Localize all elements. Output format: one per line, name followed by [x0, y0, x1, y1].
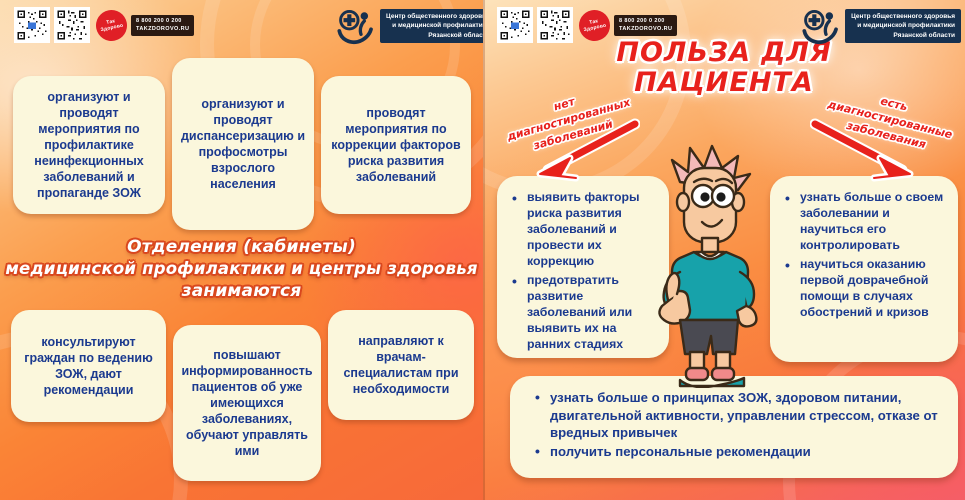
health-cross-icon [336, 6, 376, 46]
info-card-consult: консультируют граждан по ведению ЗОЖ, да… [11, 310, 166, 422]
list-item: узнать больше о принципах ЗОЖ, здоровом … [532, 389, 946, 442]
info-card-text: повышают информированность пациентов об … [173, 347, 321, 459]
info-card-organize-prevention: организуют и проводят мероприятия по про… [13, 76, 165, 214]
benefit-list-bottom: узнать больше о принципах ЗОЖ, здоровом … [510, 376, 958, 461]
takzdorovo-circle-icon: Так Здорово [93, 7, 130, 44]
info-card-text: консультируют граждан по ведению ЗОЖ, да… [11, 334, 166, 398]
center-logo: Центр общественного здоровья и медицинск… [336, 6, 483, 46]
left-title-line3: занимаются [0, 280, 483, 302]
center-logo-line2: и медицинской профилактики [851, 21, 955, 30]
list-item: выявить факторы риска развития заболеван… [509, 190, 659, 270]
left-header: Так Здорово 8 800 200 0 200 TAKZDOROVO.R… [0, 0, 483, 56]
takzdorovo-logo[interactable]: Так Здорово 8 800 200 0 200 TAKZDOROVO.R… [579, 10, 677, 41]
takzdorovo-circle-icon: Так Здорово [576, 7, 613, 44]
center-logo-line1: Центр общественного здоровья [851, 12, 955, 21]
benefit-list-right: узнать больше о своем заболевании и науч… [770, 176, 958, 321]
center-logo-line3: Рязанской области [851, 31, 955, 40]
list-item: предотвратить развитие заболеваний или в… [509, 273, 659, 353]
list-item: научиться оказанию первой доврачебной по… [782, 257, 948, 321]
left-panel: Так Здорово 8 800 200 0 200 TAKZDOROVO.R… [0, 0, 483, 500]
qr-code-group [14, 7, 90, 43]
info-card-referral: направляют к врачам-специалистам при нео… [328, 310, 474, 420]
qr-code-vk[interactable] [497, 7, 533, 43]
info-card-text: проводят мероприятия по коррекции фактор… [321, 105, 471, 185]
health-cross-icon [801, 6, 841, 46]
qr-code-group [497, 7, 573, 43]
takzdorovo-circle-label: Так Здорово [578, 17, 611, 34]
takzdorovo-logo[interactable]: Так Здорово 8 800 200 0 200 TAKZDOROVO.R… [96, 10, 194, 41]
takzdorovo-phone: 8 800 200 0 200 [619, 18, 672, 25]
benefit-box-with-diagnosis: узнать больше о своем заболевании и науч… [770, 176, 958, 362]
thumbs-up-character [650, 138, 770, 388]
benefit-box-no-diagnosis: выявить факторы риска развития заболеван… [497, 176, 669, 358]
info-card-dispensary: организуют и проводят диспансеризацию и … [172, 58, 314, 230]
center-logo-text: Центр общественного здоровья и медицинск… [845, 9, 961, 43]
right-title-line2: ПАЦИЕНТА [483, 68, 965, 98]
benefit-list-left: выявить факторы риска развития заболеван… [497, 176, 669, 353]
center-logo-text: Центр общественного здоровья и медицинск… [380, 9, 483, 43]
info-card-text: организуют и проводят мероприятия по про… [13, 89, 165, 201]
benefit-box-common: узнать больше о принципах ЗОЖ, здоровом … [510, 376, 958, 478]
poster: Так Здорово 8 800 200 0 200 TAKZDOROVO.R… [0, 0, 965, 500]
takzdorovo-site: TAKZDOROVO.RU [136, 26, 189, 33]
panel-divider [483, 0, 485, 500]
qr-code-vk[interactable] [14, 7, 50, 43]
list-item: узнать больше о своем заболевании и науч… [782, 190, 948, 254]
takzdorovo-phone-block: 8 800 200 0 200 TAKZDOROVO.RU [614, 15, 677, 36]
info-card-risk-correction: проводят мероприятия по коррекции фактор… [321, 76, 471, 214]
left-title-line1: Отделения (кабинеты) [0, 236, 483, 258]
qr-code-site[interactable] [537, 7, 573, 43]
left-panel-title: Отделения (кабинеты) медицинской профила… [0, 236, 483, 303]
left-title-line2: медицинской профилактики и центры здоров… [0, 258, 483, 280]
info-card-awareness: повышают информированность пациентов об … [173, 325, 321, 481]
takzdorovo-phone-block: 8 800 200 0 200 TAKZDOROVO.RU [131, 15, 194, 36]
list-item: получить персональные рекомендации [532, 443, 946, 461]
info-card-text: направляют к врачам-специалистам при нео… [328, 333, 474, 397]
center-logo-line1: Центр общественного здоровья [386, 12, 483, 21]
center-logo-line2: и медицинской профилактики [386, 21, 483, 30]
right-header: Так Здорово 8 800 200 0 200 TAKZDOROVO.R… [483, 0, 965, 56]
info-card-text: организуют и проводят диспансеризацию и … [172, 96, 314, 192]
center-logo: Центр общественного здоровья и медицинск… [801, 6, 961, 46]
qr-code-site[interactable] [54, 7, 90, 43]
takzdorovo-circle-label: Так Здорово [95, 17, 128, 34]
takzdorovo-phone: 8 800 200 0 200 [136, 18, 189, 25]
takzdorovo-site: TAKZDOROVO.RU [619, 26, 672, 33]
center-logo-line3: Рязанской области [386, 31, 483, 40]
